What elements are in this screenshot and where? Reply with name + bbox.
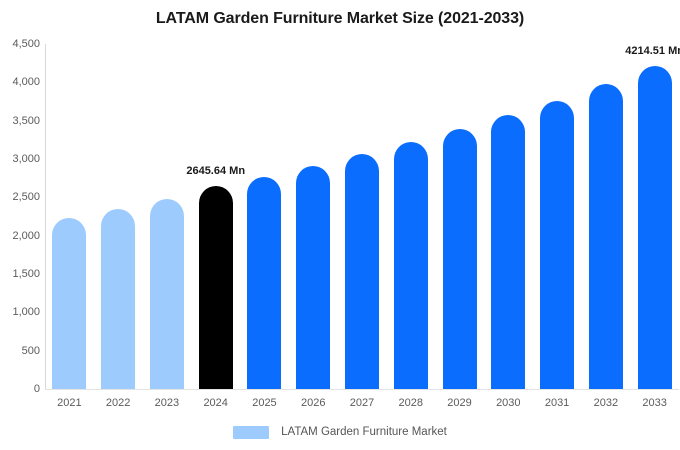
bar[interactable] [296, 166, 330, 389]
bar-group [491, 44, 525, 389]
chart-container: LATAM Garden Furniture Market Size (2021… [0, 0, 680, 450]
x-axis-tick-label: 2033 [630, 396, 679, 410]
x-axis-tick-label: 2032 [581, 396, 630, 410]
bar[interactable] [247, 177, 281, 389]
bar[interactable] [589, 84, 623, 389]
bar-value-label: 2645.64 Mn [186, 165, 245, 177]
x-axis-tick-label: 2027 [338, 396, 387, 410]
y-axis-tick-label: 1,500 [0, 268, 40, 280]
chart-title: LATAM Garden Furniture Market Size (2021… [0, 8, 680, 30]
bar[interactable] [540, 101, 574, 389]
bar-group [296, 44, 330, 389]
bar-group: 2645.64 Mn [199, 44, 233, 389]
y-axis-tick-label: 3,500 [0, 115, 40, 127]
x-axis-tick-label: 2029 [435, 396, 484, 410]
y-axis-tick-label: 0 [0, 383, 40, 395]
legend-swatch-icon [233, 426, 269, 439]
x-axis-tick-label: 2028 [386, 396, 435, 410]
y-axis-tick-label: 4,000 [0, 76, 40, 88]
bar-group: 4214.51 Mn [638, 44, 672, 389]
y-axis-tick-label: 2,500 [0, 191, 40, 203]
x-axis-tick-label: 2031 [533, 396, 582, 410]
bar-group [150, 44, 184, 389]
bar-series: 2645.64 Mn4214.51 Mn [45, 44, 679, 389]
y-axis-tick-label: 1,000 [0, 306, 40, 318]
bar[interactable] [491, 115, 525, 389]
y-axis-tick-label: 2,000 [0, 230, 40, 242]
bar-group [247, 44, 281, 389]
bar-group [443, 44, 477, 389]
x-axis-tick-label: 2022 [94, 396, 143, 410]
bar-group [345, 44, 379, 389]
bar[interactable] [101, 209, 135, 389]
bar-group [589, 44, 623, 389]
y-axis-tick-label: 4,500 [0, 38, 40, 50]
bar[interactable] [443, 129, 477, 389]
x-axis-tick-label: 2021 [45, 396, 94, 410]
bar[interactable] [638, 66, 672, 389]
x-axis-tick-label: 2024 [191, 396, 240, 410]
x-axis-tick-label: 2025 [240, 396, 289, 410]
x-axis-tick-label: 2030 [484, 396, 533, 410]
bar-group [101, 44, 135, 389]
bar[interactable] [394, 142, 428, 389]
bar-group [394, 44, 428, 389]
bar-group [52, 44, 86, 389]
x-axis-line [45, 389, 679, 390]
y-axis-tick-label: 500 [0, 345, 40, 357]
bar[interactable] [199, 186, 233, 389]
chart-legend: LATAM Garden Furniture Market [0, 425, 680, 439]
y-axis-tick-labels: 4,5004,0003,5003,0002,5002,0001,5001,000… [0, 0, 40, 450]
bar[interactable] [52, 218, 86, 389]
x-axis-tick-labels: 2021202220232024202520262027202820292030… [45, 396, 679, 416]
legend-item-label: LATAM Garden Furniture Market [281, 425, 447, 439]
bar[interactable] [345, 154, 379, 389]
legend-item[interactable]: LATAM Garden Furniture Market [233, 425, 447, 439]
y-axis-tick-label: 3,000 [0, 153, 40, 165]
x-axis-tick-label: 2026 [289, 396, 338, 410]
x-axis-tick-label: 2023 [143, 396, 192, 410]
bar-value-label: 4214.51 Mn [625, 45, 680, 57]
bar-group [540, 44, 574, 389]
bar[interactable] [150, 199, 184, 389]
